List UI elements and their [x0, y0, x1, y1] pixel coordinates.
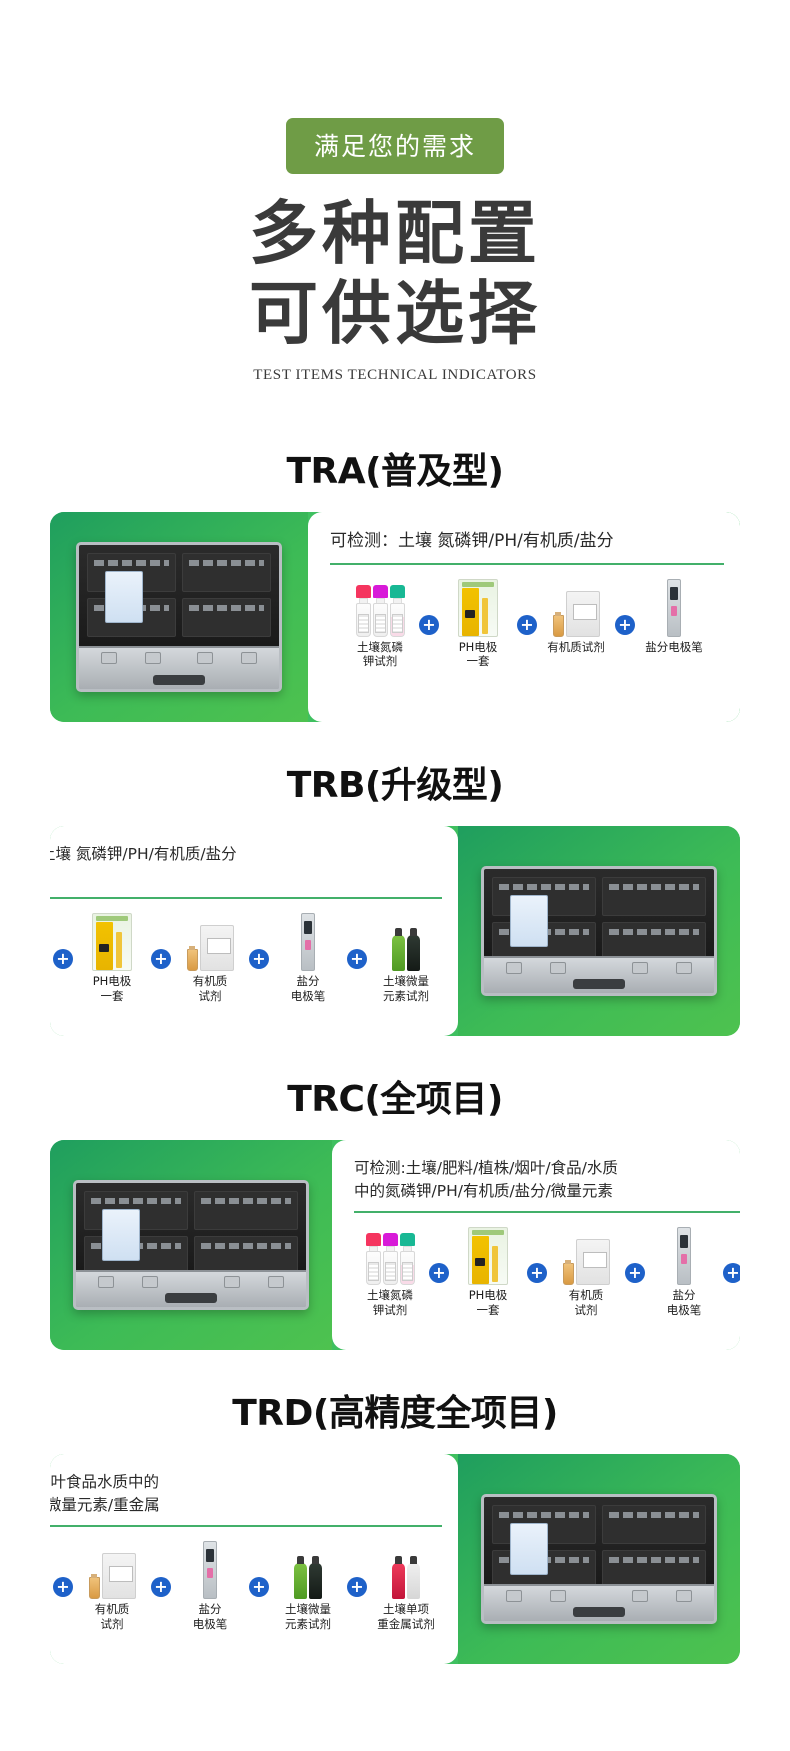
item-caption: 有机质 试剂 [95, 1602, 130, 1631]
case-photo-pane [458, 826, 740, 1036]
salinity-electrode-pen-icon [667, 579, 681, 637]
included-item: PH电极 一套 [442, 575, 514, 669]
header-pill-badge: 满足您的需求 [286, 118, 504, 174]
npk-reagent-bottles-icon [366, 1233, 415, 1285]
salinity-electrode-pen-icon [301, 913, 315, 971]
included-items-list: 土壤氮磷 钾试剂+PH电极 一套+有机质 试剂+盐分 电极笔+土壤微量 元素试剂 [354, 1219, 740, 1340]
item-image [667, 575, 681, 637]
item-caption: 土壤氮磷 钾试剂 [357, 640, 403, 669]
included-item: 盐分电极笔 [638, 575, 710, 654]
plus-icon: + [723, 1263, 740, 1283]
item-image [89, 1537, 136, 1599]
included-item: 土壤微量 元素试剂 [370, 909, 442, 1003]
plus-icon: + [347, 949, 367, 969]
item-image [563, 1223, 610, 1285]
product-detail-page: 满足您的需求 多种配置 可供选择 TEST ITEMS TECHNICAL IN… [0, 0, 790, 1664]
product-photo [73, 1180, 309, 1310]
plus-icon: + [517, 615, 537, 635]
spec-pane: 可检测：土壤 氮磷钾/PH/有机质/盐分微量元素土壤氮磷 钾试剂+PH电极 一套… [50, 826, 458, 1036]
included-item: 有机质 试剂 [174, 909, 246, 1003]
item-caption: 盐分 电极笔 [291, 974, 326, 1003]
item-image [677, 1223, 691, 1285]
included-item: 土壤氮磷 钾试剂 [344, 575, 416, 669]
salinity-electrode-pen-icon [677, 1227, 691, 1285]
included-item: PH电极 一套 [452, 1223, 524, 1317]
trace-element-reagent-icon [294, 1563, 322, 1599]
item-caption: 盐分 电极笔 [667, 1288, 702, 1317]
item-image [203, 1537, 217, 1599]
item-image [294, 1537, 322, 1599]
organic-matter-reagent-icon [563, 1239, 610, 1285]
salinity-electrode-pen-icon [203, 1541, 217, 1599]
model-section: TRA(普及型)可检测：土壤 氮磷钾/PH/有机质/盐分土壤氮磷 钾试剂+PH电… [0, 442, 790, 722]
divider-rule [354, 1211, 740, 1213]
included-item: 土壤微量 元素试剂 [272, 1537, 344, 1631]
page-title: 多种配置 可供选择 [0, 200, 790, 347]
item-caption: 土壤氮磷 钾试剂 [367, 1288, 413, 1317]
plus-icon: + [625, 1263, 645, 1283]
detect-capabilities-line: 中的氮磷钾/PH/有机质/盐分/微量元素 [354, 1180, 740, 1202]
plus-icon: + [527, 1263, 547, 1283]
spec-pane: 可检测:土壤/肥料/植株/烟叶/食品/水质中的氮磷钾/PH/有机质/盐分/微量元… [332, 1140, 740, 1350]
detect-capabilities-line: 氮磷钾/PH/有机质/盐分/微量元素/重金属 [50, 1494, 442, 1516]
model-title: TRC(全项目) [0, 1070, 790, 1122]
included-items-list: 土壤氮磷 钾试剂+PH电极 一套+有机质 试剂+盐分 电极笔+土壤微量 元素试剂 [50, 905, 442, 1026]
included-items-list: 土壤氮磷 钾试剂+PH电极 一套+有机质 试剂+盐分 电极笔+土壤微量 元素试剂… [50, 1533, 442, 1654]
page-title-line-1: 多种配置 [249, 193, 541, 274]
detect-capabilities-line: 可检测：土壤 氮磷钾/PH/有机质/盐分 [330, 529, 724, 554]
item-caption: 有机质试剂 [547, 640, 605, 654]
item-caption: 盐分电极笔 [645, 640, 703, 654]
spec-pane: 可检测：土壤 氮磷钾/PH/有机质/盐分土壤氮磷 钾试剂+PH电极 一套+有机质… [308, 512, 740, 722]
spec-pane: 可检测：土壤肥料植株烟叶食品水质中的氮磷钾/PH/有机质/盐分/微量元素/重金属… [50, 1454, 458, 1664]
ph-electrode-kit-icon [458, 579, 498, 637]
model-card: 可检测：土壤 氮磷钾/PH/有机质/盐分土壤氮磷 钾试剂+PH电极 一套+有机质… [50, 512, 740, 722]
item-caption: 有机质 试剂 [569, 1288, 604, 1317]
model-title: TRD(高精度全项目) [0, 1384, 790, 1436]
detect-capabilities-line: 可检测：土壤 氮磷钾/PH/有机质/盐分 [50, 843, 442, 865]
page-title-line-2: 可供选择 [0, 280, 790, 348]
plus-icon: + [53, 1577, 73, 1597]
page-subtitle-en: TEST ITEMS TECHNICAL INDICATORS [0, 367, 790, 384]
item-image [187, 909, 234, 971]
included-items-list: 土壤氮磷 钾试剂+PH电极 一套+有机质试剂+盐分电极笔 [330, 571, 724, 712]
model-section: TRC(全项目)可检测:土壤/肥料/植株/烟叶/食品/水质中的氮磷钾/PH/有机… [0, 1070, 790, 1350]
detect-capabilities-line: 可检测:土壤/肥料/植株/烟叶/食品/水质 [354, 1157, 740, 1179]
npk-reagent-bottles-icon [356, 585, 405, 637]
organic-matter-reagent-icon [89, 1553, 136, 1599]
product-photo [76, 542, 282, 692]
included-item: 有机质 试剂 [76, 1537, 148, 1631]
model-title: TRA(普及型) [0, 442, 790, 494]
case-photo-pane [50, 1140, 332, 1350]
included-item: 土壤氮磷 钾试剂 [354, 1223, 426, 1317]
plus-icon: + [429, 1263, 449, 1283]
organic-matter-reagent-icon [553, 591, 600, 637]
item-image [92, 909, 132, 971]
divider-rule [50, 897, 442, 899]
organic-matter-reagent-icon [187, 925, 234, 971]
case-photo-pane [50, 512, 308, 722]
ph-electrode-kit-icon [468, 1227, 508, 1285]
item-image [458, 575, 498, 637]
included-item: PH电极 一套 [76, 909, 148, 1003]
included-item: 土壤单项 重金属试剂 [370, 1537, 442, 1631]
model-section: TRB(升级型)可检测：土壤 氮磷钾/PH/有机质/盐分微量元素土壤氮磷 钾试剂… [0, 756, 790, 1036]
plus-icon: + [151, 949, 171, 969]
included-item: 有机质试剂 [540, 575, 612, 654]
detect-capabilities-line: 可检测：土壤肥料植株烟叶食品水质中的 [50, 1471, 442, 1493]
divider-rule [330, 563, 724, 565]
item-image [468, 1223, 508, 1285]
item-image [356, 575, 405, 637]
item-caption: PH电极 一套 [469, 1288, 508, 1317]
item-caption: 有机质 试剂 [193, 974, 228, 1003]
model-title: TRB(升级型) [0, 756, 790, 808]
included-item: 盐分 电极笔 [648, 1223, 720, 1317]
item-image [366, 1223, 415, 1285]
plus-icon: + [615, 615, 635, 635]
model-card: 可检测：土壤 氮磷钾/PH/有机质/盐分微量元素土壤氮磷 钾试剂+PH电极 一套… [50, 826, 740, 1036]
product-photo [481, 1494, 717, 1624]
ph-electrode-kit-icon [92, 913, 132, 971]
item-caption: PH电极 一套 [93, 974, 132, 1003]
plus-icon: + [249, 949, 269, 969]
model-card: 可检测：土壤肥料植株烟叶食品水质中的氮磷钾/PH/有机质/盐分/微量元素/重金属… [50, 1454, 740, 1664]
item-image [392, 909, 420, 971]
plus-icon: + [249, 1577, 269, 1597]
included-item: 盐分 电极笔 [174, 1537, 246, 1631]
item-caption: 土壤单项 重金属试剂 [377, 1602, 435, 1631]
product-photo [481, 866, 717, 996]
divider-rule [50, 1525, 442, 1527]
item-image [392, 1537, 420, 1599]
item-caption: PH电极 一套 [459, 640, 498, 669]
case-photo-pane [458, 1454, 740, 1664]
item-caption: 盐分 电极笔 [193, 1602, 228, 1631]
item-image [301, 909, 315, 971]
detect-capabilities-line: 微量元素 [50, 866, 442, 888]
page-header: 满足您的需求 多种配置 可供选择 TEST ITEMS TECHNICAL IN… [0, 0, 790, 384]
model-card: 可检测:土壤/肥料/植株/烟叶/食品/水质中的氮磷钾/PH/有机质/盐分/微量元… [50, 1140, 740, 1350]
model-section: TRD(高精度全项目)可检测：土壤肥料植株烟叶食品水质中的氮磷钾/PH/有机质/… [0, 1384, 790, 1664]
item-caption: 土壤微量 元素试剂 [285, 1602, 331, 1631]
heavy-metal-reagent-icon [392, 1563, 420, 1599]
item-image [553, 575, 600, 637]
plus-icon: + [151, 1577, 171, 1597]
plus-icon: + [419, 615, 439, 635]
included-item: 盐分 电极笔 [272, 909, 344, 1003]
model-sections: TRA(普及型)可检测：土壤 氮磷钾/PH/有机质/盐分土壤氮磷 钾试剂+PH电… [0, 442, 790, 1664]
trace-element-reagent-icon [392, 935, 420, 971]
plus-icon: + [347, 1577, 367, 1597]
included-item: 有机质 试剂 [550, 1223, 622, 1317]
plus-icon: + [53, 949, 73, 969]
item-caption: 土壤微量 元素试剂 [383, 974, 429, 1003]
